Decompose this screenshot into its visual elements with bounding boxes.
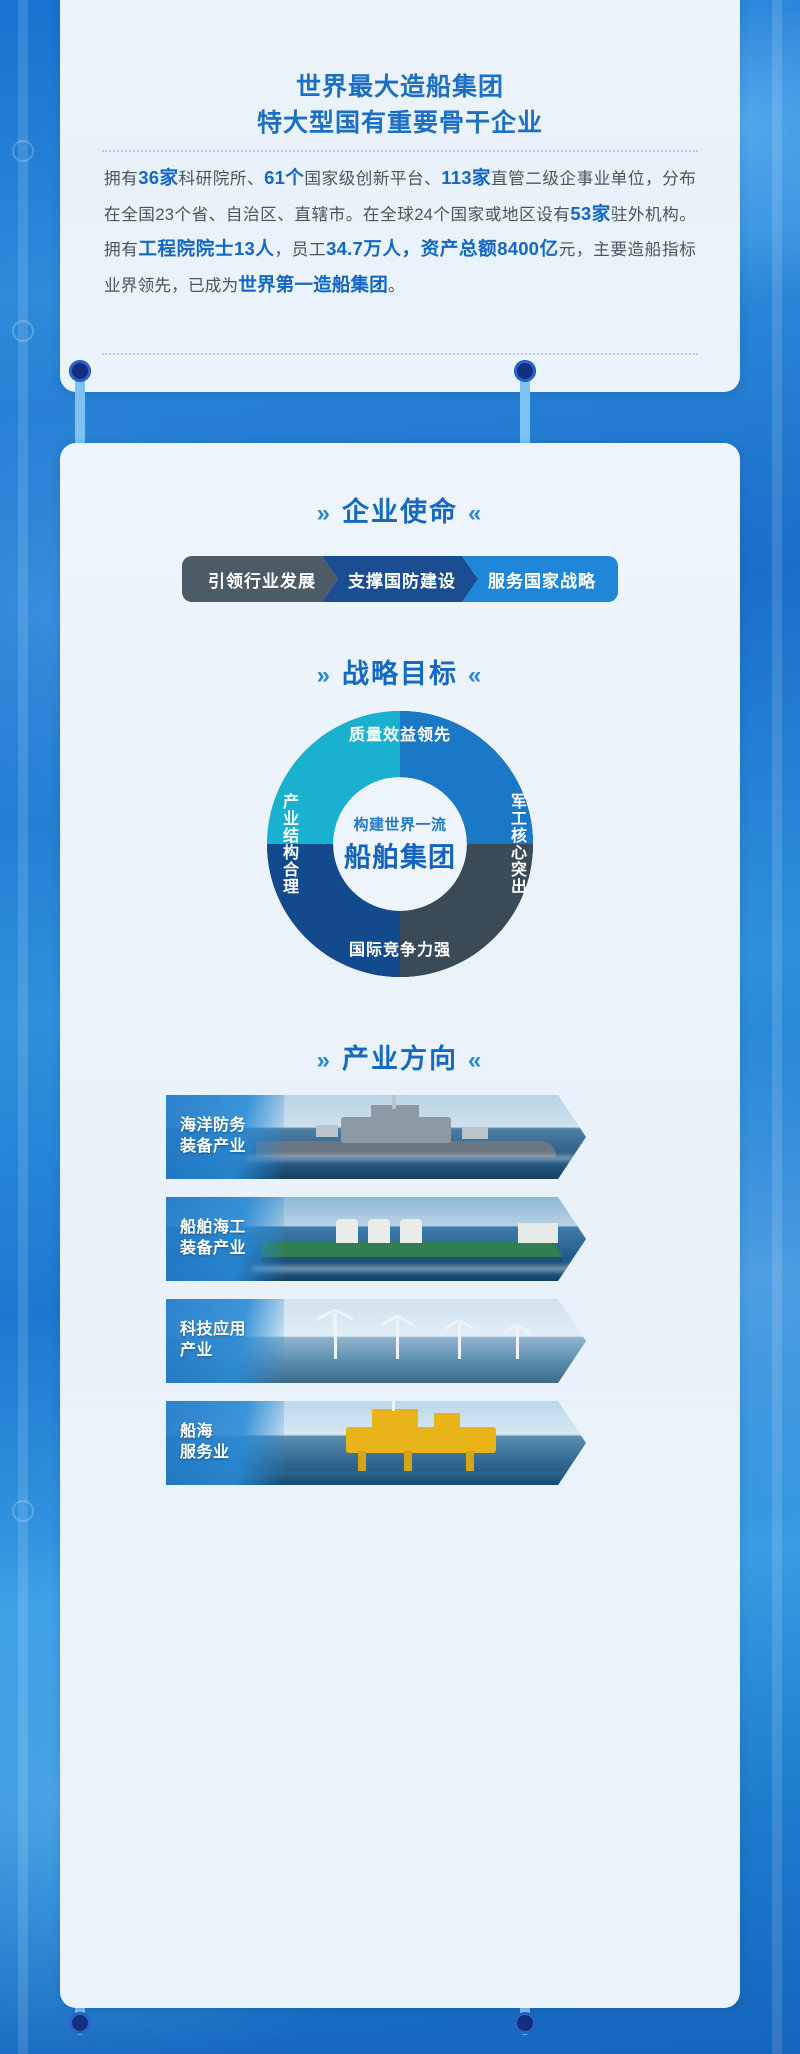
intro-text: 。	[388, 276, 405, 295]
chevron-left-icon: »	[307, 1047, 342, 1074]
intro-highlight: 8400亿	[497, 238, 559, 259]
mission-chip-2[interactable]: 支撑国防建设	[322, 556, 478, 602]
wheel-label-top: 质量效益领先	[325, 727, 475, 746]
industry-tag: 船海 服务业	[166, 1401, 284, 1485]
industry-banner-shipbuilding[interactable]: 船舶海工 装备产业	[166, 1197, 586, 1281]
intro-highlight: 34.7万	[326, 238, 382, 259]
industry-banner-services[interactable]: 船海 服务业	[166, 1401, 586, 1485]
mission-chip-1[interactable]: 引领行业发展	[182, 556, 338, 602]
mission-chip-label: 服务国家战略	[488, 567, 596, 592]
industry-banner-technology[interactable]: 科技应用 产业	[166, 1299, 586, 1383]
mission-title-text: 企业使命	[342, 497, 458, 527]
connector-dot	[514, 2012, 536, 2034]
strategy-pinwheel: 质量效益领先 军工核心突出 国际竞争力强 产业结构合理 构建世界一流 船舶集团	[257, 701, 543, 987]
chevron-right-icon: «	[458, 1047, 493, 1074]
left-rail	[18, 0, 28, 2054]
mission-chip-row: 引领行业发展支撑国防建设服务国家战略	[100, 556, 700, 602]
page-title: 世界最大造船集团 特大型国有重要骨干企业	[60, 0, 740, 141]
chevron-right-icon: «	[458, 500, 493, 527]
mission-chip-label: 引领行业发展	[208, 567, 316, 592]
intro-paragraph: 拥有36家科研院所、61个国家级创新平台、113家直管二级企事业单位，分布在全国…	[104, 160, 696, 303]
industry-label-line2: 装备产业	[180, 1239, 284, 1260]
mission-chip-label: 支撑国防建设	[348, 567, 456, 592]
wheel-center-small: 构建世界一流	[344, 814, 456, 835]
headline-line-2: 特大型国有重要骨干企业	[60, 106, 740, 142]
industry-title-text: 产业方向	[342, 1044, 458, 1074]
industry-label-line1: 船海	[180, 1422, 284, 1443]
industry-tag: 船舶海工 装备产业	[166, 1197, 284, 1281]
intro-divider	[102, 150, 698, 152]
wheel-label-bottom: 国际竞争力强	[325, 942, 475, 961]
intro-highlight: 世界第一造船集团	[238, 274, 388, 295]
industry-banner-naval[interactable]: 海洋防务 装备产业	[166, 1095, 586, 1179]
intro-highlight: 113家	[441, 167, 491, 188]
intro-text: 国家级创新平台、	[304, 169, 441, 188]
chevron-right-icon: «	[458, 662, 493, 689]
connector-dot	[69, 360, 91, 382]
right-rail	[772, 0, 782, 2054]
content-card: »企业使命« 引领行业发展支撑国防建设服务国家战略 »战略目标«	[60, 443, 740, 2008]
headline-line-1: 世界最大造船集团	[60, 70, 740, 106]
intro-text: 拥有	[104, 169, 138, 188]
intro-divider-bottom	[102, 353, 698, 355]
industry-tag: 科技应用 产业	[166, 1299, 284, 1383]
intro-text: 科研院所、	[179, 169, 265, 188]
industry-label-line2: 服务业	[180, 1443, 284, 1464]
connector-dot	[514, 360, 536, 382]
intro-highlight: 36家	[138, 167, 178, 188]
wheel-center-text: 构建世界一流 船舶集团	[344, 814, 456, 875]
industry-tag: 海洋防务 装备产业	[166, 1095, 284, 1179]
section-title-industry: »产业方向«	[60, 1037, 740, 1076]
strategy-title-text: 战略目标	[342, 659, 458, 689]
section-title-strategy: »战略目标«	[60, 652, 740, 691]
intro-text: ，员工	[275, 240, 327, 259]
section-title-mission: »企业使命«	[60, 490, 740, 529]
chevron-left-icon: »	[307, 662, 342, 689]
intro-highlight: 工程院院士13人	[138, 238, 274, 259]
wheel-label-left: 产业结构合理	[275, 793, 297, 895]
intro-highlight: 61个	[264, 167, 304, 188]
intro-highlight: 53家	[570, 203, 610, 224]
industry-label-line1: 船舶海工	[180, 1218, 284, 1239]
wheel-center-big: 船舶集团	[344, 836, 456, 875]
wheel-label-right: 军工核心突出	[503, 793, 525, 895]
intro-card: 中 国 船 舶 世界最大造船集团 特大型国有重要骨干企业 拥有36家科研院所、6…	[60, 0, 740, 392]
rail-ring-decor	[12, 320, 34, 342]
industry-label-line1: 科技应用	[180, 1320, 284, 1341]
mission-chip-3[interactable]: 服务国家战略	[462, 556, 618, 602]
chevron-left-icon: »	[307, 500, 342, 527]
connector-dot	[69, 2012, 91, 2034]
rail-ring-decor	[12, 1500, 34, 1522]
industry-label-line1: 海洋防务	[180, 1116, 284, 1137]
industry-label-line2: 装备产业	[180, 1137, 284, 1158]
intro-highlight: 人，资产总额	[383, 238, 498, 259]
industry-label-line2: 产业	[180, 1341, 284, 1362]
rail-ring-decor	[12, 140, 34, 162]
